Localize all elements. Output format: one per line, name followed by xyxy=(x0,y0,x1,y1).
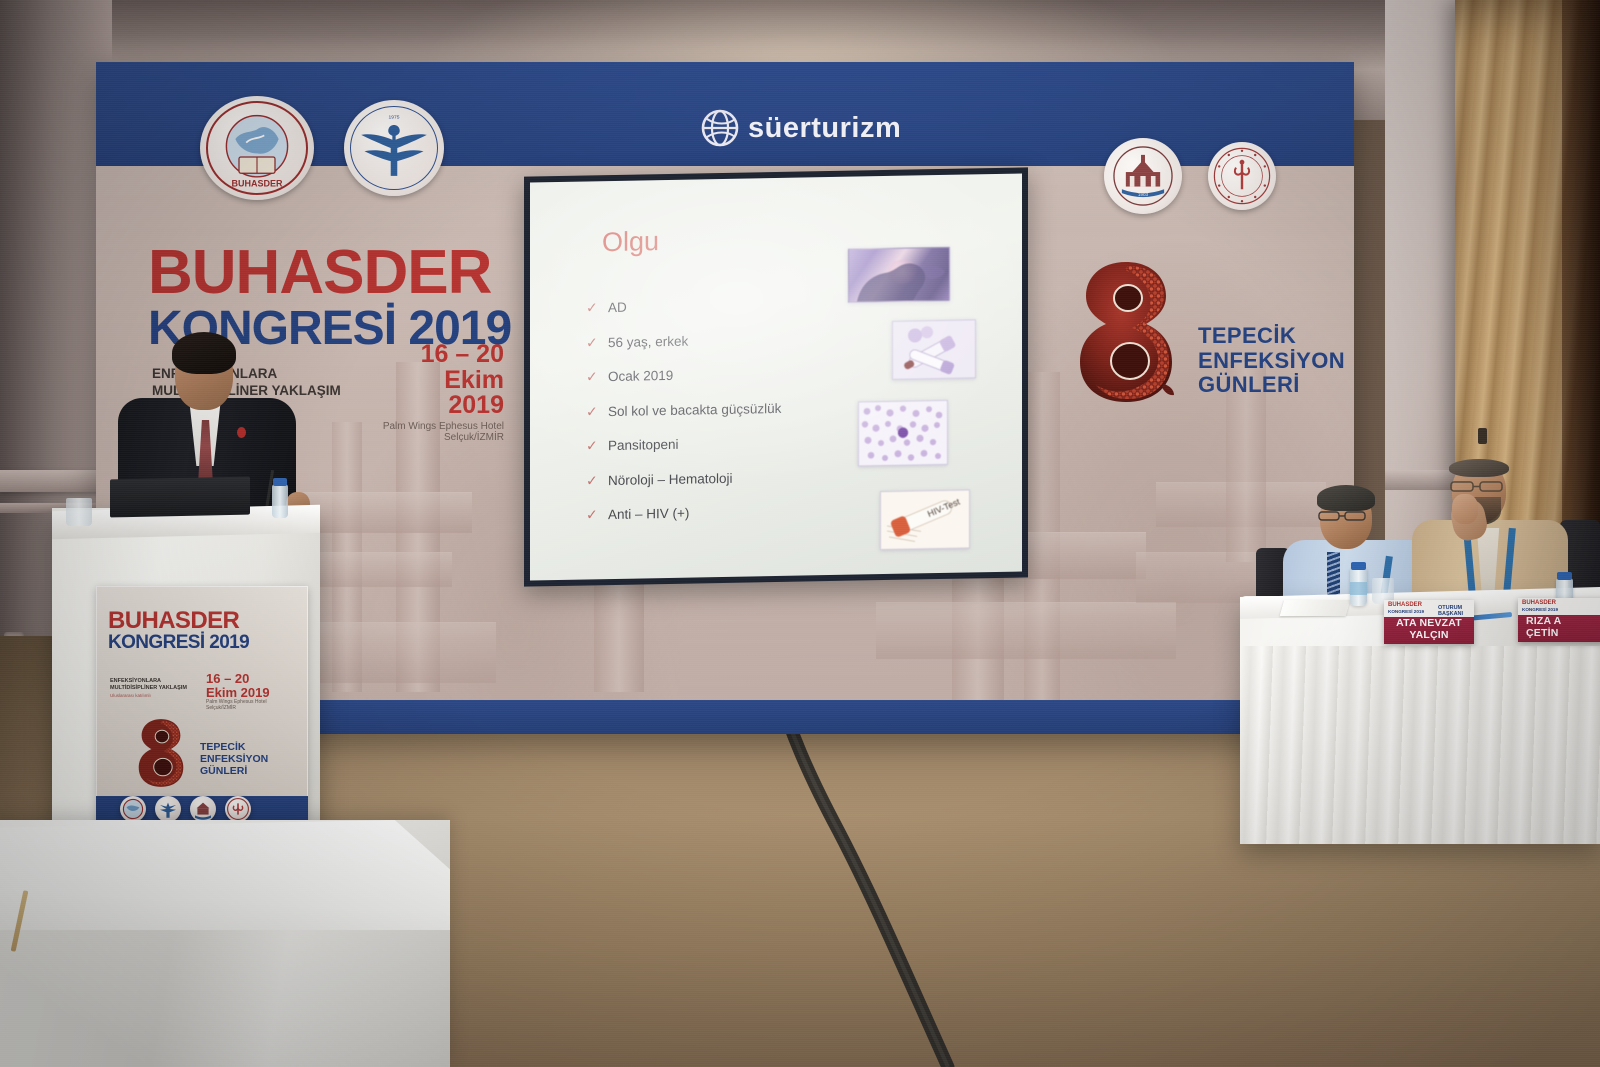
event-number-logo xyxy=(1062,256,1190,413)
pomegranate-eight-icon xyxy=(1062,256,1190,408)
projection-screen: Olgu ✓ AD ✓ 56 yaş, erkek ✓ Ocak 2019 ✓ … xyxy=(530,173,1022,580)
blood-collection-tubes-photo xyxy=(892,319,976,380)
laptop-computer xyxy=(110,477,250,518)
list-item-label: Anti – HIV (+) xyxy=(608,506,689,522)
nameplate-name-line2: ÇETİN xyxy=(1526,627,1559,639)
panelist-left-hair xyxy=(1317,485,1375,511)
water-bottle-second-cap xyxy=(1557,572,1572,580)
podium-poster-logo-row xyxy=(120,796,251,822)
sponsor-name: süerturizm xyxy=(748,112,901,145)
nameplate: BUHASDER KONGRESİ 2019 OTURUM BAŞKANI AT… xyxy=(1384,600,1474,644)
paper-notes xyxy=(1280,600,1351,616)
check-mark-icon: ✓ xyxy=(586,437,608,454)
eyeglasses-icon xyxy=(1318,511,1368,521)
panel-table-skirt xyxy=(1240,646,1600,844)
sponsor-logo: süerturizm xyxy=(700,108,901,148)
podium-poster-dates-line1: 16 – 20 xyxy=(206,672,298,686)
panelist-right-hand xyxy=(1452,494,1478,524)
list-item: ✓ Pansitopeni xyxy=(586,432,886,454)
check-mark-icon: ✓ xyxy=(586,403,608,420)
event-name-line1: TEPECİK xyxy=(1198,324,1345,349)
event-name-line2: ENFEKSİYON xyxy=(1198,349,1345,374)
ministry-logo-small xyxy=(225,796,251,822)
backdrop-dates-line1: 16 – 20 xyxy=(382,342,504,368)
check-mark-icon: ✓ xyxy=(586,299,608,316)
water-bottle xyxy=(272,484,288,518)
event-name-block: TEPECİK ENFEKSİYON GÜNLERİ xyxy=(1198,324,1345,398)
list-item: ✓ AD xyxy=(586,294,886,316)
list-item-label: Ocak 2019 xyxy=(608,368,673,384)
slide-title: Olgu xyxy=(602,226,659,258)
list-item-label: Nöroloji – Hematoloji xyxy=(608,470,733,487)
buhasder-logo-small xyxy=(120,796,146,822)
svg-text:1903: 1903 xyxy=(1138,192,1149,197)
podium-pomegranate-eight-icon xyxy=(130,716,192,790)
blood-smear-micrograph xyxy=(858,400,948,467)
slide-bullet-list: ✓ AD ✓ 56 yaş, erkek ✓ Ocak 2019 ✓ Sol k… xyxy=(586,294,886,541)
water-bottle-label xyxy=(1350,582,1367,595)
list-item: ✓ Nöroloji – Hematoloji xyxy=(586,466,886,488)
curtain-tieback-hook xyxy=(1478,428,1487,444)
buhasder-logo: BUHASDER xyxy=(200,96,314,200)
nameplate-brand-line2: KONGRESİ 2019 xyxy=(1522,607,1558,612)
podium-poster-subtitle-line2: MULTİDİSİPLİNER YAKLAŞIM xyxy=(110,685,202,692)
podium-poster-event-line3: GÜNLERİ xyxy=(200,766,268,778)
backdrop-date-block: 16 – 20 Ekim 2019 Palm Wings Ephesus Hot… xyxy=(382,342,504,443)
podium-poster-city: Selçuk/İZMİR xyxy=(206,705,298,711)
list-item: ✓ Sol kol ve bacakta güçsüzlük xyxy=(586,397,886,419)
university-building-emblem: 1903 xyxy=(1109,143,1177,209)
list-item: ✓ Ocak 2019 xyxy=(586,363,886,385)
backdrop-venue: Palm Wings Ephesus Hotel xyxy=(382,421,504,432)
nameplate-role: OTURUM BAŞKANI xyxy=(1438,605,1474,617)
turkish-flag-pin-icon xyxy=(237,427,246,438)
nameplate-name-line1: ATA NEVZAT xyxy=(1396,617,1462,629)
podium-poster-title-line2: KONGRESİ 2019 xyxy=(108,633,249,652)
backdrop-city: Selçuk/İZMİR xyxy=(382,432,504,443)
tepecik-hospital-logo-small xyxy=(155,796,181,822)
check-mark-icon: ✓ xyxy=(586,334,608,351)
backdrop-title-line1: BUHASDER xyxy=(148,244,511,303)
check-mark-icon: ✓ xyxy=(586,368,608,385)
panelist-right-hair xyxy=(1449,459,1509,477)
podium-poster-subtitle-note: Uluslararası katılımlı xyxy=(110,693,202,698)
water-bottle-cap xyxy=(273,478,287,486)
foreground-table-drape xyxy=(0,930,450,1067)
nameplate-name-line1: RIZA A xyxy=(1526,615,1561,627)
nameplate-brand-line1: BUHASDER xyxy=(1522,600,1556,606)
hiv-test-tube-photo: HIV-Test xyxy=(880,489,970,550)
drinking-glass xyxy=(66,498,92,526)
saglik-bakanligi-logo xyxy=(1208,142,1276,210)
nameplate-brand-line1: BUHASDER xyxy=(1388,602,1422,608)
podium-poster: BUHASDER KONGRESİ 2019 ENFEKSİYONLARA MU… xyxy=(96,586,308,830)
eyeglasses-icon xyxy=(1450,481,1504,492)
event-name-line3: GÜNLERİ xyxy=(1198,373,1345,398)
check-mark-icon: ✓ xyxy=(586,506,608,523)
list-item-label: 56 yaş, erkek xyxy=(608,333,688,349)
backdrop-dates-line2: Ekim 2019 xyxy=(382,368,504,419)
water-bottle-cap xyxy=(1351,562,1366,570)
globe-icon xyxy=(700,108,740,148)
list-item-label: AD xyxy=(608,300,627,315)
podium-poster-title-line1: BUHASDER xyxy=(108,610,249,633)
nameplate-name-line2: YALÇIN xyxy=(1409,629,1448,641)
saglik-bilimleri-universitesi-logo: 1903 xyxy=(1104,138,1182,214)
list-item: ✓ 56 yaş, erkek xyxy=(586,328,886,350)
conference-hall-photo: BUHASDER 1975 süerturizm xyxy=(0,0,1600,1067)
podium-poster-dates-line2: Ekim 2019 xyxy=(206,686,298,700)
university-logo-small xyxy=(190,796,216,822)
list-item-label: Pansitopeni xyxy=(608,437,679,453)
nameplate: BUHASDER KONGRESİ 2019 RIZA A ÇETİN xyxy=(1518,598,1600,642)
hands-pain-photo xyxy=(848,247,950,303)
tepecik-hospital-logo: 1975 xyxy=(344,100,444,196)
check-mark-icon: ✓ xyxy=(586,472,608,489)
ministry-of-health-emblem xyxy=(1212,146,1272,206)
nameplate-brand-line2: KONGRESİ 2019 xyxy=(1388,609,1424,614)
list-item-label: Sol kol ve bacakta güçsüzlük xyxy=(608,400,781,418)
list-item: ✓ Anti – HIV (+) xyxy=(586,501,886,523)
speaker-hair xyxy=(172,332,236,374)
